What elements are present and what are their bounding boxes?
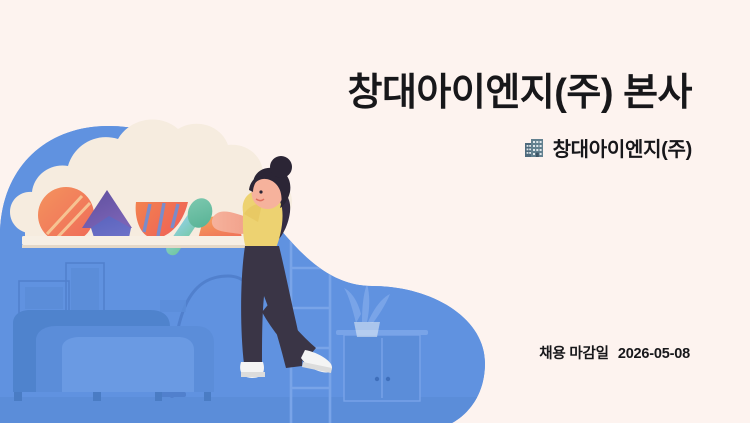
eye: [259, 190, 262, 193]
shelf: [22, 236, 272, 248]
cabinet: [336, 330, 428, 401]
shape-sphere-orange: [38, 187, 94, 243]
illustration: [0, 0, 750, 423]
hair-bun: [270, 156, 292, 178]
floor-band: [0, 397, 500, 423]
job-posting-banner: 창대아이엔지(주) 본사: [0, 0, 750, 423]
